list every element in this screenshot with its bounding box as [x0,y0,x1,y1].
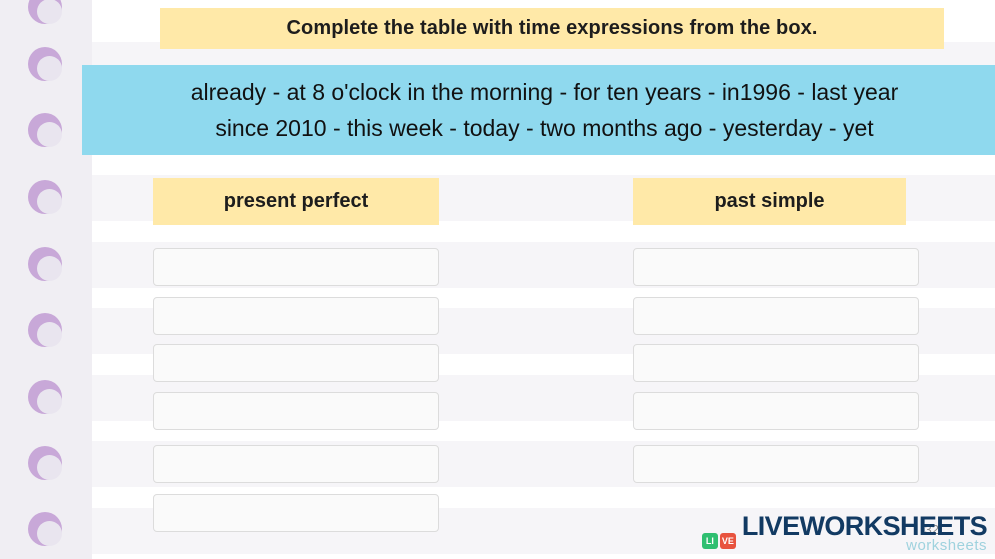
rail-dot-inner [37,322,62,347]
answer-field-present-perfect-6[interactable] [153,494,439,532]
logo-tile-ve: VE [720,533,736,549]
rail-dot-inner [37,455,62,480]
rail-dot-inner [37,189,62,214]
column-header-label: past simple [714,190,824,213]
rail-dot [28,113,62,147]
column-header-past-simple: past simple [633,178,906,225]
brand-subtitle: worksheets [906,538,987,553]
answer-field-present-perfect-1[interactable] [153,248,439,286]
rail-dot [28,446,62,480]
word-bank-line-2: since 2010 - this week - today - two mon… [215,111,873,145]
rail-dot-inner [37,389,62,414]
rail-dot [28,180,62,214]
answer-field-past-simple-4[interactable] [633,392,919,430]
answer-field-present-perfect-3[interactable] [153,344,439,382]
brand-text-stack: LIVEWORKSHEETS worksheets [742,513,987,553]
word-bank-box: already - at 8 o'clock in the morning - … [82,65,995,155]
instruction-banner: Complete the table with time expressions… [160,8,944,49]
answer-field-past-simple-2[interactable] [633,297,919,335]
answer-field-present-perfect-4[interactable] [153,392,439,430]
rail-dot [28,313,62,347]
answer-field-present-perfect-2[interactable] [153,297,439,335]
answer-field-past-simple-3[interactable] [633,344,919,382]
left-decorative-rail [0,0,93,559]
rail-dot [28,0,62,24]
rail-dot [28,47,62,81]
rail-dot [28,380,62,414]
column-header-present-perfect: present perfect [153,178,439,225]
rail-dot [28,512,62,546]
logo-tile-li: LI [702,533,718,549]
rail-dot-inner [37,0,62,24]
answer-field-past-simple-5[interactable] [633,445,919,483]
word-bank-line-1: already - at 8 o'clock in the morning - … [191,75,899,109]
rail-dot-inner [37,56,62,81]
rail-dot-inner [37,122,62,147]
column-header-label: present perfect [224,190,369,213]
liveworksheets-brand: LI VE LIVEWORKSHEETS worksheets [702,513,987,553]
rail-dot-inner [37,256,62,281]
rail-dot [28,247,62,281]
worksheet-page: Complete the table with time expressions… [92,0,995,559]
rail-dot-inner [37,521,62,546]
brand-name: LIVEWORKSHEETS [742,513,987,540]
page-title: Complete the table with time expressions… [286,17,817,40]
answer-field-present-perfect-5[interactable] [153,445,439,483]
liveworksheets-logo-icon: LI VE [702,533,736,549]
answer-field-past-simple-1[interactable] [633,248,919,286]
